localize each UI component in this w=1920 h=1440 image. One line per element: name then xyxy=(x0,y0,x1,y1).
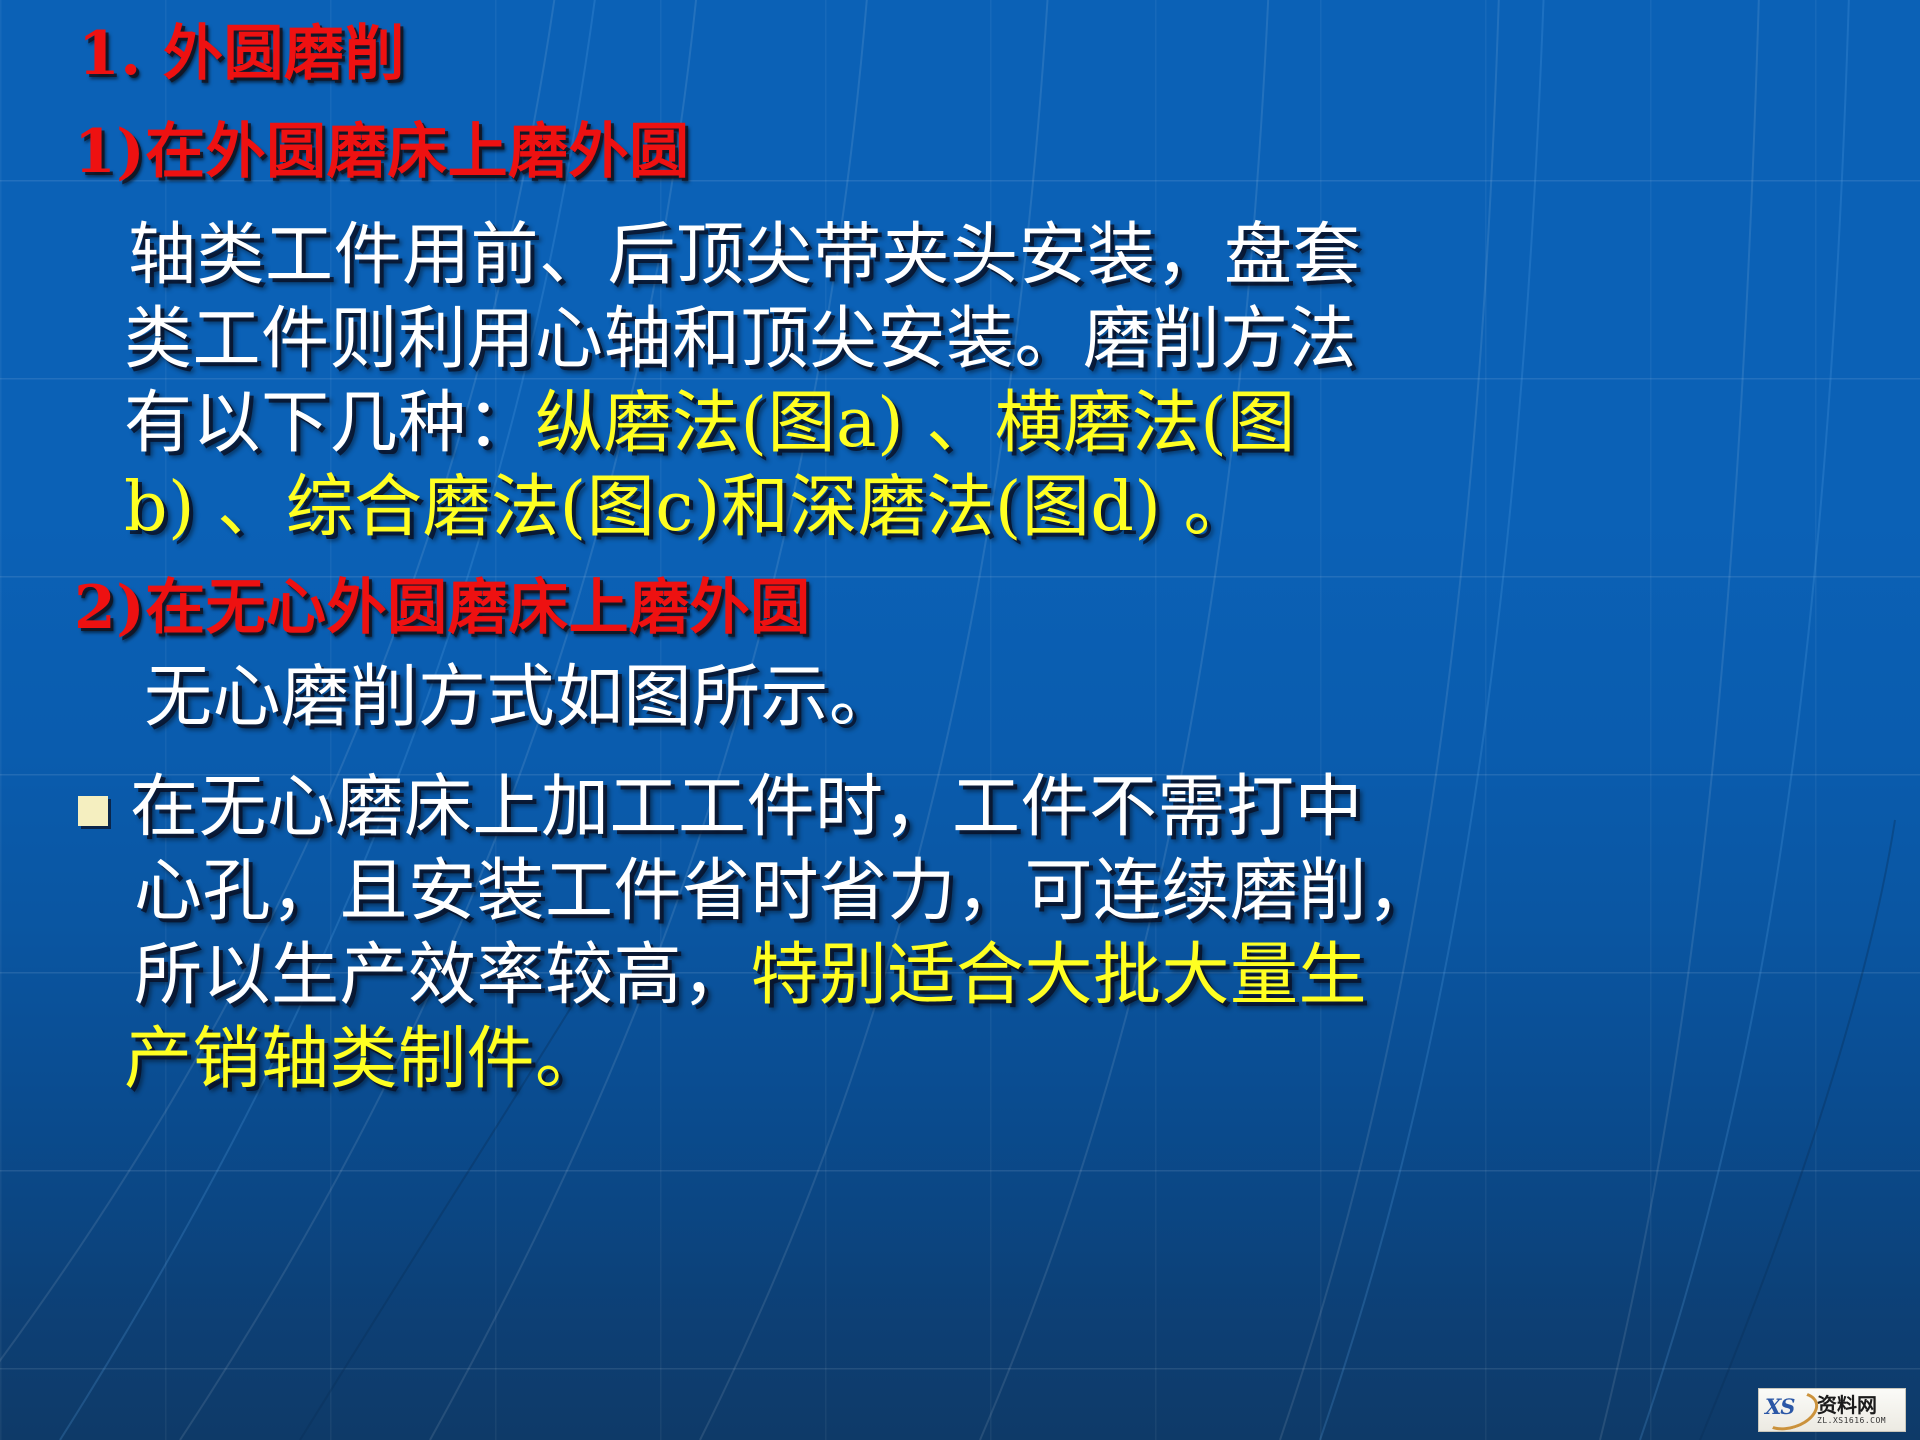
heading-section-1: 1. 外圆磨削 xyxy=(78,24,405,84)
watermark-logo-mark: XS xyxy=(1759,1389,1817,1431)
square-bullet-icon xyxy=(78,796,108,826)
watermark-site-url: ZL.XS1616.COM xyxy=(1817,1417,1905,1425)
paragraph1-line3: 有以下几种：纵磨法(图a) 、横磨法(图 xyxy=(124,390,1296,458)
paragraph1-line3-white: 有以下几种： xyxy=(124,390,535,458)
presentation-slide: 1. 外圆磨削 1)在外圆磨床上磨外圆 轴类工件用前、后顶尖带夹头安装，盘套 类… xyxy=(0,0,1920,1440)
paragraph3-line3: 所以生产效率较高，特别适合大批大量生 xyxy=(134,942,1367,1010)
paragraph1-line3-highlight: 纵磨法(图a) 、横磨法(图 xyxy=(535,390,1296,458)
watermark-site-name: 资料网 xyxy=(1817,1395,1905,1415)
watermark-xs-text: XS xyxy=(1765,1394,1794,1419)
watermark-text-block: 资料网 ZL.XS1616.COM xyxy=(1817,1395,1905,1425)
paragraph2-line1: 无心磨削方式如图所示。 xyxy=(144,664,898,732)
slide-text-content: 1. 外圆磨削 1)在外圆磨床上磨外圆 轴类工件用前、后顶尖带夹头安装，盘套 类… xyxy=(0,0,1920,1440)
paragraph1-line4-highlight: b) 、综合磨法(图c)和深磨法(图d) 。 xyxy=(124,474,1252,542)
paragraph1-line1: 轴类工件用前、后顶尖带夹头安装，盘套 xyxy=(128,222,1361,290)
heading-subsection-2: 2)在无心外圆磨床上磨外圆 xyxy=(74,578,811,638)
paragraph3-line3-highlight: 特别适合大批大量生 xyxy=(751,942,1368,1010)
heading-subsection-1: 1)在外圆磨床上磨外圆 xyxy=(74,122,690,182)
paragraph3-line2: 心孔，且安装工件省时省力，可连续磨削， xyxy=(134,858,1436,926)
paragraph1-line2: 类工件则利用心轴和顶尖安装。磨削方法 xyxy=(124,306,1357,374)
paragraph3-line3-white: 所以生产效率较高， xyxy=(134,942,751,1010)
paragraph3-line1: 在无心磨床上加工工件时，工件不需打中 xyxy=(130,774,1363,842)
site-watermark: XS 资料网 ZL.XS1616.COM xyxy=(1758,1388,1906,1432)
paragraph3-line4-highlight: 产销轴类制件。 xyxy=(124,1026,604,1094)
